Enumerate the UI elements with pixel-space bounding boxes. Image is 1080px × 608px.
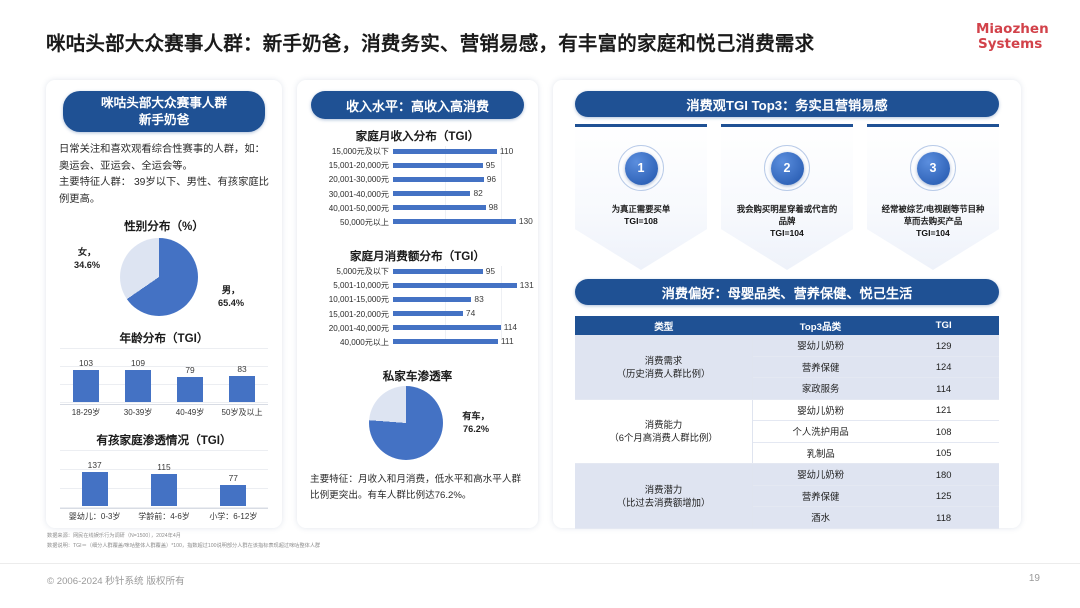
bar-value-label: 77 <box>229 473 238 483</box>
axis-tick-label: 18-29岁 <box>60 407 112 420</box>
hbar-value-label: 95 <box>486 160 495 170</box>
gender-chart-title: 性别分布（%） <box>46 218 282 234</box>
hbar-fill <box>393 297 471 302</box>
kids-axis-labels: 婴幼儿：0-3岁学龄前：4-6岁小学：6-12岁 <box>60 508 268 524</box>
hbar-fill <box>393 269 483 274</box>
hbar-fill <box>393 177 484 182</box>
income-banner: 收入水平：高收入高消费 <box>311 91 524 119</box>
hbar-fill <box>393 339 498 344</box>
bar-value-label: 137 <box>88 460 102 470</box>
bar <box>125 370 151 402</box>
hbar-track: 131 <box>393 280 530 292</box>
hbar-track: 74 <box>393 308 530 320</box>
hbar-track: 110 <box>393 146 530 158</box>
hbar-fill <box>393 163 483 168</box>
table-row: 消费潜力（比过去消费额增加）婴幼儿奶粉180 <box>575 464 999 486</box>
table-cell-tgi: 108 <box>888 421 999 443</box>
spend-chart-title: 家庭月消费额分布（TGI） <box>297 248 538 264</box>
hbar-category-label: 30,001-40,000元 <box>306 189 393 200</box>
bar-value-label: 109 <box>131 358 145 368</box>
logo-line-1: Miaozhen <box>976 22 1062 37</box>
shield-top-bar <box>867 124 999 127</box>
hbar-row: 15,001-20,000元95 <box>306 160 530 172</box>
table-cell-tgi: 180 <box>888 464 999 486</box>
spend-distribution-chart: 5,000元及以下955,001-10,000元13110,001-15,000… <box>306 266 530 356</box>
shield-tgi-value: TGI=104 <box>916 228 950 238</box>
hbar-track: 83 <box>393 294 530 306</box>
rank-number: 3 <box>917 152 950 185</box>
bar-column: 79 <box>173 358 207 402</box>
bar-column: 115 <box>147 460 181 506</box>
age-axis-labels: 18-29岁30-39岁40-49岁50岁及以上 <box>60 404 268 420</box>
hbar-track: 114 <box>393 322 530 334</box>
left-banner-line-1: 咪咕头部大众赛事人群 <box>101 95 227 112</box>
hbar-track: 95 <box>393 160 530 172</box>
bar-column: 77 <box>216 460 250 506</box>
hbar-category-label: 15,000元及以下 <box>306 146 393 157</box>
left-banner-line-2: 新手奶爸 <box>139 112 189 129</box>
left-panel: 咪咕头部大众赛事人群 新手奶爸 日常关注和喜欢观看综合性赛事的人群，如：奥运会、… <box>46 80 282 528</box>
hbar-category-label: 5,001-10,000元 <box>306 280 393 291</box>
bar <box>220 485 246 506</box>
age-chart-title: 年龄分布（TGI） <box>46 330 282 346</box>
table-group-label: 消费潜力（比过去消费额增加） <box>575 464 753 529</box>
hbar-value-label: 95 <box>486 266 495 276</box>
hbar-row: 15,001-20,000元74 <box>306 308 530 320</box>
rank-number: 2 <box>771 152 804 185</box>
car-pie-chart <box>369 386 443 460</box>
tgi-shield-card: 3经常被综艺/电视剧等节目种草而去购买产品TGI=104 <box>867 124 999 270</box>
table-group-label: 消费能力（6个月高消费人群比例） <box>575 399 753 464</box>
audience-description: 日常关注和喜欢观看综合性赛事的人群，如：奥运会、亚运会、全运会等。 主要特征人群… <box>59 142 271 209</box>
bar-value-label: 103 <box>79 358 93 368</box>
footer-divider <box>0 563 1080 564</box>
hbar-value-label: 131 <box>520 280 534 290</box>
hbar-row: 30,001-40,000元82 <box>306 188 530 200</box>
hbar-category-label: 40,000元以上 <box>306 337 393 348</box>
axis-tick-label: 50岁及以上 <box>216 407 268 420</box>
table-column-header: Top3品类 <box>753 316 889 335</box>
footnotes: 数据来源：网民在线娱乐行为调研（N=1500），2024年4月 数据说明：TGI… <box>47 532 647 551</box>
hbar-value-label: 96 <box>487 174 496 184</box>
bar <box>151 474 177 506</box>
right-panel: 消费观TGI Top3：务实且营销易感 1为真正需要买单TGI=1082我会购买… <box>553 80 1021 528</box>
preference-table: 类型Top3品类TGI 消费需求（历史消费人群比例）婴幼儿奶粉129营养保健12… <box>575 316 999 529</box>
hbar-fill <box>393 311 463 316</box>
shield-statement: 我会购买明星穿着或代言的品牌 <box>735 203 839 227</box>
hbar-value-label: 110 <box>500 146 513 156</box>
hbar-track: 111 <box>393 336 530 348</box>
hbar-value-label: 82 <box>473 188 482 198</box>
table-cell-category: 乳制品 <box>753 442 889 464</box>
hbar-track: 82 <box>393 188 530 200</box>
tgi-shield-card: 2我会购买明星穿着或代言的品牌TGI=104 <box>721 124 853 270</box>
hbar-category-label: 5,000元及以下 <box>306 266 393 277</box>
tgi-top3-shields: 1为真正需要买单TGI=1082我会购买明星穿着或代言的品牌TGI=1043经常… <box>575 124 999 270</box>
hbar-category-label: 15,001-20,000元 <box>306 309 393 320</box>
income-note: 主要特征：月收入和月消费，低水平和高水平人群比例更突出。有车人群比例达76.2%… <box>310 472 525 505</box>
table-cell-category: 婴幼儿奶粉 <box>753 399 889 421</box>
income-chart-title: 家庭月收入分布（TGI） <box>297 128 538 144</box>
hbar-category-label: 40,001-50,000元 <box>306 203 393 214</box>
gender-female-label: 女， 34.6% <box>60 246 114 273</box>
hbar-value-label: 74 <box>466 308 475 318</box>
table-column-header: 类型 <box>575 316 753 335</box>
hbar-category-label: 10,001-15,000元 <box>306 294 393 305</box>
hbar-row: 5,001-10,000元131 <box>306 280 530 292</box>
car-has-label: 有车， 76.2% <box>447 410 505 437</box>
shield-top-bar <box>575 124 707 127</box>
shield-statement: 为真正需要买单 <box>589 203 693 215</box>
table-column-header: TGI <box>888 316 999 335</box>
rank-circle-ring: 2 <box>764 145 810 191</box>
hbar-row: 50,000元以上130 <box>306 216 530 228</box>
table-cell-category: 婴幼儿奶粉 <box>753 464 889 486</box>
axis-tick-label: 学龄前：4-6岁 <box>129 511 198 524</box>
gender-pie-slices <box>120 238 198 316</box>
shield-statement: 经常被综艺/电视剧等节目种草而去购买产品 <box>881 203 985 227</box>
table-cell-category: 酒水 <box>753 507 889 529</box>
table-body: 消费需求（历史消费人群比例）婴幼儿奶粉129营养保健124家政服务114消费能力… <box>575 335 999 528</box>
shield-tgi-value: TGI=108 <box>624 216 658 226</box>
hbar-value-label: 130 <box>519 216 533 226</box>
table-cell-category: 营养保健 <box>753 485 889 507</box>
rank-circle-ring: 1 <box>618 145 664 191</box>
hbar-fill <box>393 205 486 210</box>
table-cell-category: 个人洗护用品 <box>753 421 889 443</box>
footnote-definition: 数据说明：TGI＝（细分人群覆盖/咪咕整体人群覆盖）*100，指数超过100说明… <box>47 542 647 552</box>
bar-column: 83 <box>225 358 259 402</box>
hbar-value-label: 114 <box>504 322 517 332</box>
rank-number: 1 <box>625 152 658 185</box>
hbar-fill <box>393 149 497 154</box>
hbar-category-label: 20,001-40,000元 <box>306 323 393 334</box>
tgi-shield-card: 1为真正需要买单TGI=108 <box>575 124 707 270</box>
kids-penetration-chart: 13711577 婴幼儿：0-3岁学龄前：4-6岁小学：6-12岁 <box>60 450 268 524</box>
table-cell-category: 营养保健 <box>753 356 889 378</box>
car-pie-slices <box>369 386 443 460</box>
left-panel-banner: 咪咕头部大众赛事人群 新手奶爸 <box>63 91 265 132</box>
hbar-row: 10,001-15,000元83 <box>306 294 530 306</box>
middle-panel: 收入水平：高收入高消费 家庭月收入分布（TGI） 15,000元及以下11015… <box>297 80 538 528</box>
table-row: 消费能力（6个月高消费人群比例）婴幼儿奶粉121 <box>575 399 999 421</box>
table-cell-tgi: 105 <box>888 442 999 464</box>
shield-top-bar <box>721 124 853 127</box>
table-cell-tgi: 114 <box>888 378 999 400</box>
hbar-fill <box>393 219 516 224</box>
hbar-category-label: 15,001-20,000元 <box>306 160 393 171</box>
axis-tick-label: 小学：6-12岁 <box>199 511 268 524</box>
bar-column: 109 <box>121 358 155 402</box>
table-row: 消费需求（历史消费人群比例）婴幼儿奶粉129 <box>575 335 999 356</box>
income-distribution-chart: 15,000元及以下11015,001-20,000元9520,001-30,0… <box>306 146 530 236</box>
hbar-track: 95 <box>393 266 530 278</box>
slide: 咪咕头部大众赛事人群：新手奶爸，消费务实、营销易感，有丰富的家庭和悦己消费需求 … <box>0 0 1080 608</box>
page-title: 咪咕头部大众赛事人群：新手奶爸，消费务实、营销易感，有丰富的家庭和悦己消费需求 <box>46 27 936 56</box>
hbar-track: 96 <box>393 174 530 186</box>
miaozhen-logo: Miaozhen Systems <box>976 22 1062 51</box>
table-group-label: 消费需求（历史消费人群比例） <box>575 335 753 399</box>
hbar-fill <box>393 283 517 288</box>
bar <box>73 370 99 402</box>
bar-column: 137 <box>78 460 112 506</box>
gender-male-label: 男， 65.4% <box>204 284 258 311</box>
table-cell-tgi: 121 <box>888 399 999 421</box>
bar-value-label: 115 <box>157 462 170 472</box>
hbar-category-label: 50,000元以上 <box>306 217 393 228</box>
table-cell-category: 婴幼儿奶粉 <box>753 335 889 356</box>
hbar-fill <box>393 325 501 330</box>
hbar-row: 5,000元及以下95 <box>306 266 530 278</box>
hbar-fill <box>393 191 470 196</box>
bar-value-label: 79 <box>185 365 194 375</box>
bar-value-label: 83 <box>237 364 246 374</box>
hbar-row: 40,000元以上111 <box>306 336 530 348</box>
gender-pie-chart <box>120 238 198 316</box>
hbar-value-label: 83 <box>474 294 483 304</box>
table-cell-category: 家政服务 <box>753 378 889 400</box>
hbar-track: 98 <box>393 202 530 214</box>
bar <box>82 472 108 506</box>
axis-tick-label: 30-39岁 <box>112 407 164 420</box>
hbar-value-label: 111 <box>501 336 514 346</box>
age-bars: 1031097983 <box>60 358 268 402</box>
hbar-row: 20,001-30,000元96 <box>306 174 530 186</box>
table-cell-tgi: 124 <box>888 356 999 378</box>
age-distribution-chart: 1031097983 18-29岁30-39岁40-49岁50岁及以上 <box>60 348 268 420</box>
shield-tgi-value: TGI=104 <box>770 228 804 238</box>
table-cell-tgi: 125 <box>888 485 999 507</box>
logo-line-2: Systems <box>976 37 1062 52</box>
bar <box>177 377 203 402</box>
car-chart-title: 私家车渗透率 <box>297 368 538 384</box>
axis-tick-label: 40-49岁 <box>164 407 216 420</box>
hbar-track: 130 <box>393 216 530 228</box>
table-cell-tgi: 118 <box>888 507 999 529</box>
table-header-row: 类型Top3品类TGI <box>575 316 999 335</box>
kids-chart-title: 有孩家庭渗透情况（TGI） <box>46 432 282 448</box>
hbar-row: 15,000元及以下110 <box>306 146 530 158</box>
hbar-value-label: 98 <box>489 202 498 212</box>
hbar-row: 20,001-40,000元114 <box>306 322 530 334</box>
bar-column: 103 <box>69 358 103 402</box>
footnote-source: 数据来源：网民在线娱乐行为调研（N=1500），2024年4月 <box>47 532 647 542</box>
bar <box>229 376 255 402</box>
rank-circle-ring: 3 <box>910 145 956 191</box>
tgi-top3-banner: 消费观TGI Top3：务实且营销易感 <box>575 91 999 117</box>
page-number: 19 <box>1029 573 1040 584</box>
axis-tick-label: 婴幼儿：0-3岁 <box>60 511 129 524</box>
table-cell-tgi: 129 <box>888 335 999 356</box>
preference-banner: 消费偏好：母婴品类、营养保健、悦己生活 <box>575 279 999 305</box>
copyright-text: © 2006-2024 秒针系统 版权所有 <box>47 573 185 587</box>
hbar-row: 40,001-50,000元98 <box>306 202 530 214</box>
hbar-category-label: 20,001-30,000元 <box>306 174 393 185</box>
kids-bars: 13711577 <box>60 460 268 506</box>
